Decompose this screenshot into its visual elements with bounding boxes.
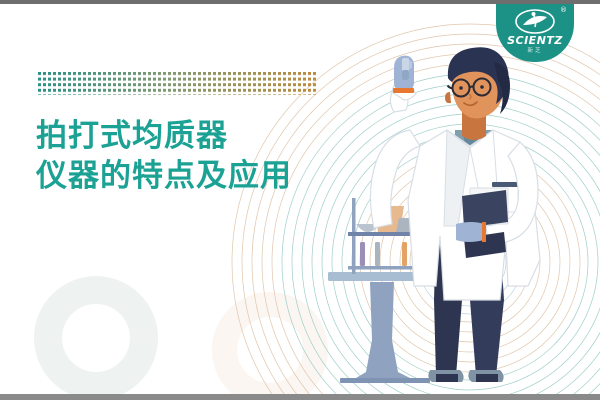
test-tube-orange (402, 242, 407, 266)
bottom-frame-bar (0, 394, 600, 400)
sock-left (436, 374, 458, 382)
test-tube-purple (360, 242, 365, 266)
test-tube-gray (375, 242, 380, 266)
logo-chinese-mark: 新芝 (496, 46, 574, 54)
poster-canvas: 拍打式均质器 仪器的特点及应用 (0, 0, 600, 400)
registered-trademark-icon: ® (560, 7, 567, 14)
scientz-logo[interactable]: ® SCIENTZ 新芝 (496, 0, 574, 62)
sock-right (476, 374, 498, 382)
ear (445, 92, 451, 103)
table-pedestal (356, 282, 410, 381)
eye-left (459, 86, 463, 90)
eye-right (480, 85, 484, 89)
glove-cuff-raised (393, 88, 414, 93)
table-base (340, 378, 430, 383)
top-frame-bar (0, 0, 600, 4)
hand-lower (456, 222, 484, 242)
held-test-tube-liquid (402, 70, 409, 80)
glove-cuff-lower (482, 222, 486, 242)
logo-emblem-icon (515, 9, 555, 34)
pocket-flap (492, 182, 520, 187)
